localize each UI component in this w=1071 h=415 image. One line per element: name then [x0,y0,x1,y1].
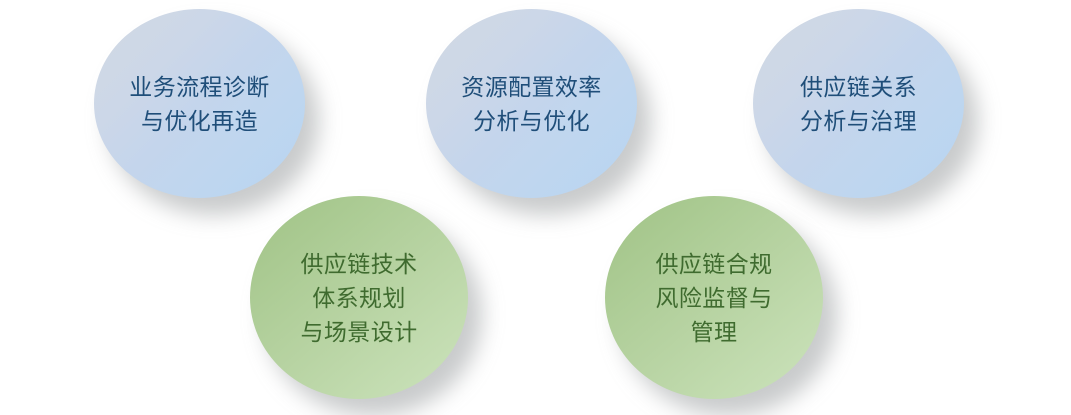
diagram-canvas: 业务流程诊断 与优化再造 资源配置效率 分析与优化 供应链关系 分析与治理 供应… [0,0,1071,415]
circle-node-supply-chain-relationship-governance[interactable]: 供应链关系 分析与治理 [753,9,964,198]
circle-node-label: 业务流程诊断 与优化再造 [121,70,277,138]
circle-node-label: 资源配置效率 分析与优化 [453,70,609,138]
circle-node-label: 供应链合规 风险监督与 管理 [648,247,781,349]
circle-node-supply-chain-compliance-risk[interactable]: 供应链合规 风险监督与 管理 [605,196,823,399]
circle-node-business-process-diagnosis[interactable]: 业务流程诊断 与优化再造 [94,9,305,198]
circle-node-resource-allocation-efficiency[interactable]: 资源配置效率 分析与优化 [426,9,637,198]
circle-node-supply-chain-technology-planning[interactable]: 供应链技术 体系规划 与场景设计 [250,196,468,399]
circle-node-label: 供应链关系 分析与治理 [792,70,925,138]
circle-node-label: 供应链技术 体系规划 与场景设计 [293,247,426,349]
